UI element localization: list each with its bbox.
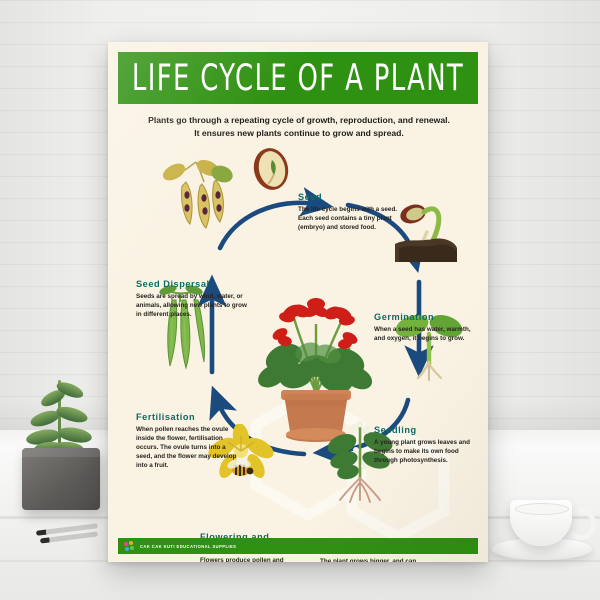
stage-seed-dispersal: Seed Dispersal Seeds are spread by wind,… bbox=[136, 279, 250, 319]
brand-name: CAK CAK KUTI EDUCATIONAL SUPPLIES bbox=[140, 544, 236, 549]
stage-seedling-body: A young plant grows leaves and begins to… bbox=[374, 438, 474, 465]
stage-germination-heading: Germination bbox=[374, 312, 472, 323]
stage-seed: Seed The life cycle begins with a seed. … bbox=[298, 192, 403, 232]
stage-germination-body: When a seed has water, warmth, and oxyge… bbox=[374, 325, 472, 343]
stage-fertilisation-body: When pollen reaches the ovule inside the… bbox=[136, 425, 240, 471]
stage-adult-plant-body: The plant grows bigger, and can now supp… bbox=[320, 557, 430, 562]
stage-seedling: Seedling A young plant grows leaves and … bbox=[374, 425, 474, 465]
stage-seed-body: The life cycle begins with a seed. Each … bbox=[298, 205, 403, 232]
photo-scene: Life Cycle of a Plant Plants go through … bbox=[0, 0, 600, 600]
stage-seedling-heading: Seedling bbox=[374, 425, 474, 436]
stage-flowering-body: Flowers produce pollen and attract polli… bbox=[200, 556, 304, 562]
stage-seed-dispersal-body: Seeds are spread by wind, water, or anim… bbox=[136, 292, 250, 319]
potted-red-flowering-plant-icon bbox=[250, 254, 382, 444]
stage-fertilisation: Fertilisation When pollen reaches the ov… bbox=[136, 412, 240, 470]
stage-fertilisation-heading: Fertilisation bbox=[136, 412, 240, 423]
bean-seed-cross-section-icon bbox=[248, 146, 294, 192]
stage-germination: Germination When a seed has water, warmt… bbox=[374, 312, 472, 343]
plant-life-cycle-poster: Life Cycle of a Plant Plants go through … bbox=[108, 42, 488, 562]
stage-seed-dispersal-heading: Seed Dispersal bbox=[136, 279, 250, 290]
brand-logo-icon bbox=[124, 541, 135, 552]
concrete-pot bbox=[22, 448, 100, 510]
stage-seed-heading: Seed bbox=[298, 192, 403, 203]
poster-footer: CAK CAK KUTI EDUCATIONAL SUPPLIES bbox=[118, 538, 478, 554]
dried-bean-pods-with-seeds-icon bbox=[156, 148, 242, 236]
